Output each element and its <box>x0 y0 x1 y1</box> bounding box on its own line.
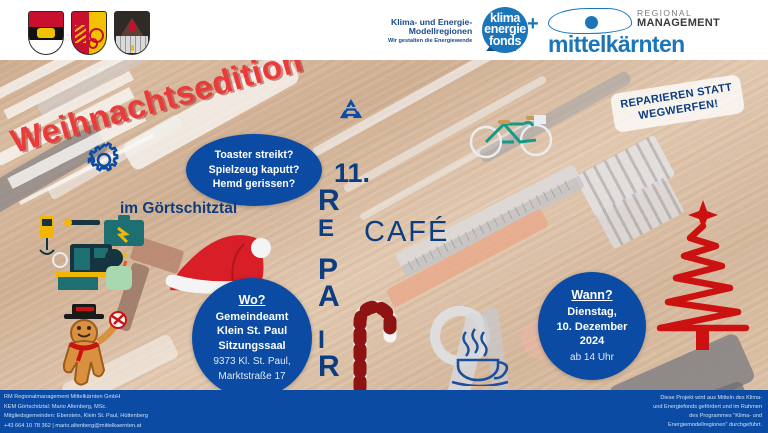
footer-funding-line: des Programmes "Klima- und <box>532 412 762 421</box>
location-bubble: Wo? Gemeindeamt Klein St. Paul Sitzungss… <box>192 278 312 398</box>
footer-funding-note: Diese Projekt wird aus Mitteln des Klima… <box>532 394 762 430</box>
title-repair: REPAIR <box>318 182 341 386</box>
location-line2: Klein St. Paul <box>217 324 287 339</box>
gear-icon <box>84 140 124 180</box>
klimafonds-logo: klima energie fonds <box>482 7 528 53</box>
footer-contact-line: KEM Görtschitztal: Mario Altenberg, MSc. <box>4 403 148 413</box>
date-bubble: Wann? Dienstag, 10. Dezember 2024 ab 14 … <box>538 272 646 380</box>
date-line3: 2024 <box>580 334 604 349</box>
huettenberg-crest <box>114 11 150 55</box>
footer-funding-line: und Energiefonds gefördert und im Rahmen <box>532 403 762 412</box>
question-1: Toaster streikt? <box>215 148 294 163</box>
location-line1: Gemeindeamt <box>216 310 289 325</box>
date-heading: Wann? <box>571 288 612 302</box>
location-address-1: 9373 Kl. St. Paul, <box>213 355 290 368</box>
coffee-cup-icon <box>448 324 518 386</box>
footer-funding-line: Diese Projekt wird aus Mitteln des Klima… <box>532 394 762 403</box>
klein-st-paul-crest <box>71 11 107 55</box>
title-cafe: CAFÉ <box>364 216 449 249</box>
gingerbread-man-icon <box>36 304 132 390</box>
question-3: Hemd gerissen? <box>213 177 295 192</box>
footer-contact-line: Mitgliedsgemeinden: Eberstein, Klein St.… <box>4 412 148 422</box>
kem-logo-line2: Modellregionen <box>388 27 472 37</box>
repair-cafe-poster: Klima- und Energie- Modellregionen Wir g… <box>0 0 768 433</box>
poster-footer: RM Regionalmanagement Mittelkärnten GmbH… <box>0 390 768 433</box>
bicycle-icon <box>468 108 554 160</box>
location-line3: Sitzungssaal <box>218 339 285 354</box>
date-time: ab 14 Uhr <box>570 351 614 364</box>
question-2: Spielzeug kaputt? <box>209 163 300 178</box>
christmas-tree-icon <box>650 196 756 372</box>
title-region: im Görtschitztal <box>120 200 237 218</box>
candy-cane-icon <box>344 286 406 392</box>
kem-logo-tagline: Wir gestalten die Energiewende <box>388 38 472 44</box>
location-heading: Wo? <box>239 293 266 307</box>
location-address-2: Marktstraße 17 <box>218 370 285 383</box>
mittelkaernten-wordmark: mittelkärnten <box>548 33 685 56</box>
poster-header: Klima- und Energie- Modellregionen Wir g… <box>0 0 768 60</box>
klimafonds-plus: + <box>527 13 539 36</box>
date-line2: 10. Dezember <box>557 320 628 335</box>
footer-funding-line: Energiemodellregionen" durchgeführt. <box>532 421 762 430</box>
footer-contact-line: RM Regionalmanagement Mittelkärnten GmbH <box>4 393 148 403</box>
date-line1: Dienstag, <box>567 305 617 320</box>
municipality-crests <box>28 11 150 55</box>
footer-contact-line: +43 664 10 78 362 | mario.altenberg@mitt… <box>4 422 148 432</box>
eberstein-crest <box>28 11 64 55</box>
recycle-icon <box>336 96 366 126</box>
klimafonds-line3: fonds <box>489 36 521 48</box>
questions-bubble: Toaster streikt? Spielzeug kaputt? Hemd … <box>186 134 322 206</box>
footer-contact: RM Regionalmanagement Mittelkärnten GmbH… <box>4 393 148 431</box>
regional-line2: MANAGEMENT <box>637 18 720 29</box>
